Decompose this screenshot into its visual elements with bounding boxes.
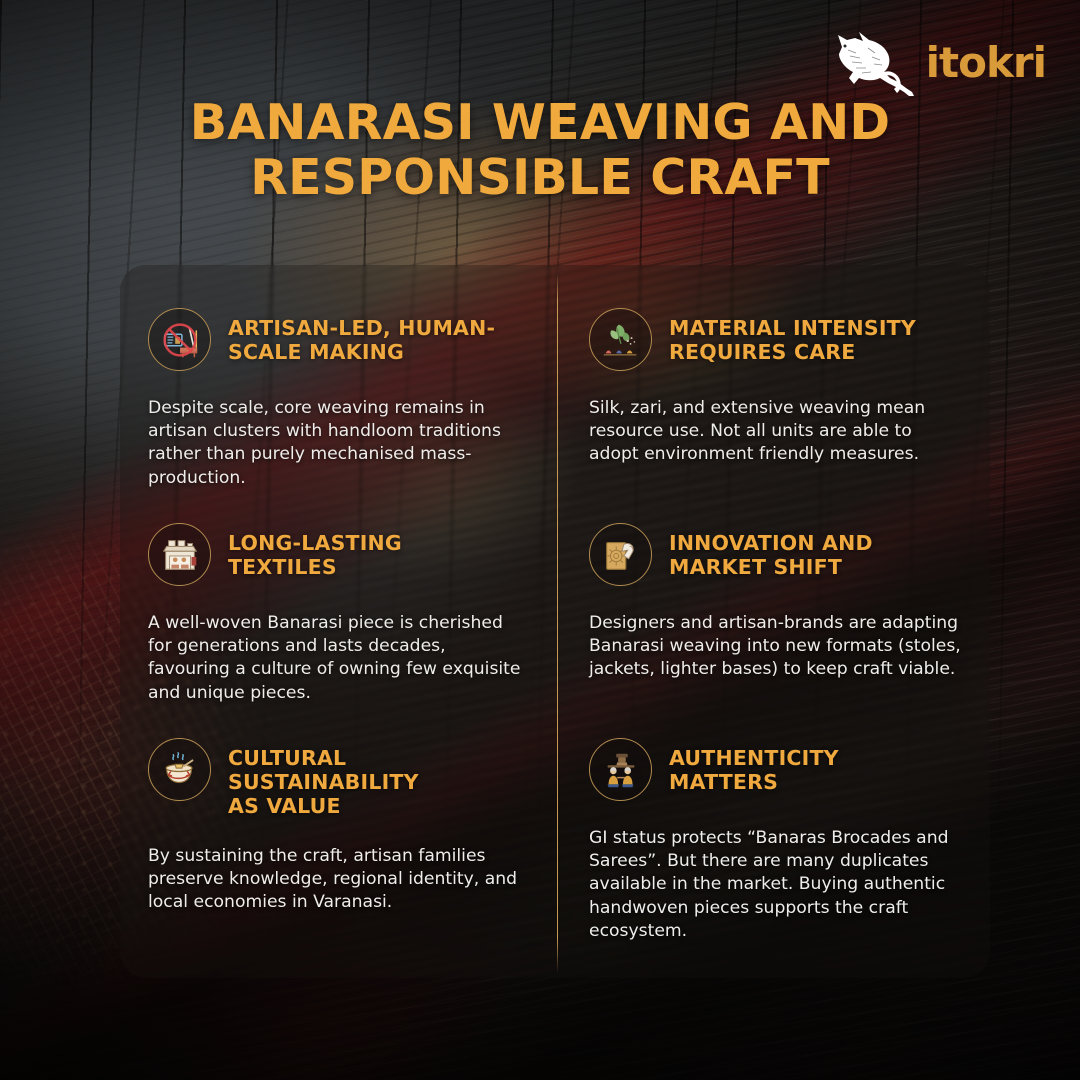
points-grid: ARTISAN-LED, HUMAN- SCALE MAKING Despite… xyxy=(120,265,990,978)
brand-wordmark: itokri xyxy=(926,42,1046,84)
hand-holding-fabric-swatch-icon xyxy=(589,523,652,586)
point-title: LONG-LASTING TEXTILES xyxy=(228,523,402,579)
point-body: Despite scale, core weaving remains in a… xyxy=(148,397,529,490)
page-title: BANARASI WEAVING AND RESPONSIBLE CRAFT xyxy=(120,96,960,206)
point-body: GI status protects “Banaras Brocades and… xyxy=(589,827,964,943)
point-body: Silk, zari, and extensive weaving mean r… xyxy=(589,397,964,467)
infographic-poster: itokri BANARASI WEAVING AND RESPONSIBLE … xyxy=(0,0,1080,1080)
artisan-shop-storefront-icon xyxy=(148,523,211,586)
point-title: CULTURAL SUSTAINABILITY AS VALUE xyxy=(228,738,529,819)
point-header: MATERIAL INTENSITY REQUIRES CARE xyxy=(589,308,964,371)
point-title: INNOVATION AND MARKET SHIFT xyxy=(669,523,873,579)
point-item-long-lasting-textiles: LONG-LASTING TEXTILES A well-woven Banar… xyxy=(120,480,557,695)
point-header: CULTURAL SUSTAINABILITY AS VALUE xyxy=(148,738,529,819)
point-item-authenticity-matters: AUTHENTICITY MATTERS GI status protects … xyxy=(557,695,990,978)
title-block: BANARASI WEAVING AND RESPONSIBLE CRAFT xyxy=(0,96,1080,206)
point-item-innovation-market-shift: INNOVATION AND MARKET SHIFT Designers an… xyxy=(557,480,990,695)
cat-mark-icon xyxy=(828,26,920,100)
point-header: ARTISAN-LED, HUMAN- SCALE MAKING xyxy=(148,308,529,371)
point-header: LONG-LASTING TEXTILES xyxy=(148,523,529,586)
point-body: By sustaining the craft, artisan familie… xyxy=(148,845,529,915)
content-card: ARTISAN-LED, HUMAN- SCALE MAKING Despite… xyxy=(120,265,990,978)
point-item-cultural-sustainability: CULTURAL SUSTAINABILITY AS VALUE By sust… xyxy=(120,695,557,978)
point-title: MATERIAL INTENSITY REQUIRES CARE xyxy=(669,308,916,364)
point-item-artisan-led: ARTISAN-LED, HUMAN- SCALE MAKING Despite… xyxy=(120,265,557,480)
point-header: AUTHENTICITY MATTERS xyxy=(589,738,964,801)
point-title: AUTHENTICITY MATTERS xyxy=(669,738,839,794)
point-item-material-intensity: MATERIAL INTENSITY REQUIRES CARE Silk, z… xyxy=(557,265,990,480)
two-seated-artisans-icon xyxy=(589,738,652,801)
brand-logo-group: itokri xyxy=(828,26,1046,100)
point-header: INNOVATION AND MARKET SHIFT xyxy=(589,523,964,586)
natural-dye-leaves-icon xyxy=(589,308,652,371)
point-body: A well-woven Banarasi piece is cherished… xyxy=(148,612,529,705)
steaming-dye-pot-icon xyxy=(148,738,211,801)
no-mass-production-loom-icon xyxy=(148,308,211,371)
point-title: ARTISAN-LED, HUMAN- SCALE MAKING xyxy=(228,308,495,364)
point-body: Designers and artisan-brands are adaptin… xyxy=(589,612,964,682)
